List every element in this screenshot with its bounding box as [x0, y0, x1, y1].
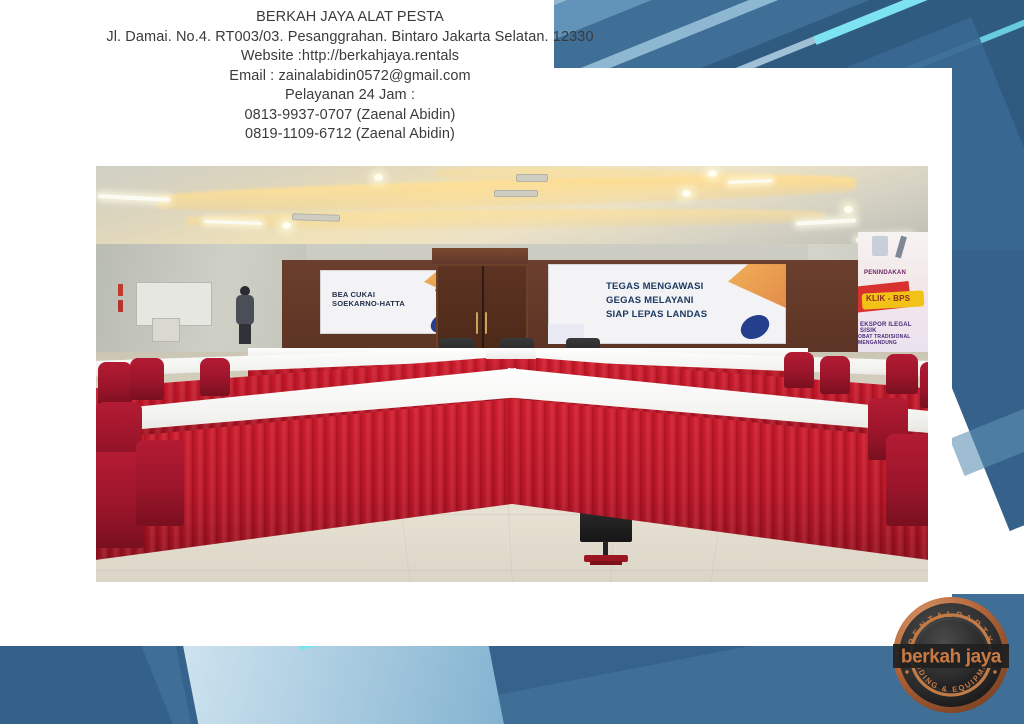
service-hours: Pelayanan 24 Jam : — [0, 86, 700, 106]
phone-number-2: 0819-1109-6712 (Zaenal Abidin) — [0, 125, 700, 145]
chair-right-6 — [820, 356, 850, 394]
chair-left-2 — [130, 358, 164, 400]
company-address: Jl. Damai. No.4. RT003/03. Pesanggrahan.… — [0, 28, 700, 48]
meeting-room-scene: BEA CUKAI SOEKARNO-HATTA TEGAS MENGAWASI… — [96, 166, 928, 582]
door-handle-left — [476, 312, 478, 334]
banner-tegas-mengawasi: TEGAS MENGAWASI GEGAS MELAYANI SIAP LEPA… — [548, 264, 786, 344]
chair-right-5 — [784, 352, 814, 388]
door-handle-right — [485, 312, 487, 334]
header-contact-block: BERKAH JAYA ALAT PESTA Jl. Damai. No.4. … — [0, 8, 700, 145]
logo-center-text: berkah jaya — [901, 647, 1002, 668]
ceiling-vent-2 — [494, 190, 538, 197]
flyer-page: BERKAH JAYA ALAT PESTA Jl. Damai. No.4. … — [0, 0, 1024, 724]
chair-left-1 — [98, 362, 132, 406]
venue-photo: BEA CUKAI SOEKARNO-HATTA TEGAS MENGAWASI… — [96, 166, 928, 582]
company-email: Email : zainalabidin0572@gmail.com — [0, 67, 700, 87]
brand-logo: RENTALPARTY WEDDING & EQUIPMENT berkah j… — [890, 594, 1012, 716]
banner-left-line1: BEA CUKAI — [332, 290, 405, 299]
door-transom — [432, 248, 528, 264]
fire-extinguisher-icon — [118, 284, 123, 296]
chair-left-6 — [200, 358, 230, 396]
banner-right-line1: TEGAS MENGAWASI — [606, 280, 707, 294]
banner-left-line2: SOEKARNO-HATTA — [332, 299, 405, 308]
banner-right-line2: GEGAS MELAYANI — [606, 294, 707, 308]
chair-right-2 — [920, 362, 928, 408]
banner-bea-cukai-text: BEA CUKAI SOEKARNO-HATTA — [332, 290, 405, 309]
ceiling-downlight-4 — [282, 222, 291, 229]
banner-far-line3: EKSPOR ILEGAL SISIK — [860, 322, 928, 334]
chair-right-4 — [886, 434, 928, 526]
banner-tegas-text: TEGAS MENGAWASI GEGAS MELAYANI SIAP LEPA… — [606, 280, 707, 321]
monitor-base-lower — [590, 561, 622, 565]
company-name: BERKAH JAYA ALAT PESTA — [0, 8, 700, 28]
logo-dot-right — [993, 670, 996, 673]
ceiling-downlight-3 — [708, 170, 717, 177]
person-standing — [234, 286, 256, 344]
brand-logo-svg: RENTALPARTY WEDDING & EQUIPMENT berkah j… — [890, 594, 1012, 716]
deco-band-tr-cyan — [813, 0, 1024, 45]
phone-number-1: 0813-9937-0707 (Zaenal Abidin) — [0, 106, 700, 126]
banner-far-line4: OBAT TRADISIONAL MENGANDUNG — [858, 334, 928, 346]
chair-right-1 — [886, 354, 918, 394]
banner-right-line3: SIAP LEPAS LANDAS — [606, 308, 707, 322]
ceiling-downlight-2 — [682, 190, 691, 197]
banner-far-line1: PENINDAKAN — [864, 270, 906, 276]
person-legs — [239, 324, 251, 344]
banner-blob-right — [737, 310, 774, 344]
logo-dot-left — [905, 670, 908, 673]
ceiling-downlight-5 — [844, 206, 853, 213]
banner-penindakan: PENINDAKAN KLIK - BPS EKSPOR ILEGAL SISI… — [858, 232, 928, 360]
company-website: Website :http://berkahjaya.rentals — [0, 47, 700, 67]
ceiling-downlight-1 — [374, 174, 383, 181]
fire-extinguisher-icon-2 — [118, 300, 123, 312]
person-torso — [236, 295, 254, 325]
chair-left-5 — [136, 440, 184, 526]
wall-panel-small — [152, 318, 180, 342]
ceiling-vent-1 — [516, 174, 548, 182]
banner-far-line2: KLIK - BPS — [866, 294, 910, 303]
